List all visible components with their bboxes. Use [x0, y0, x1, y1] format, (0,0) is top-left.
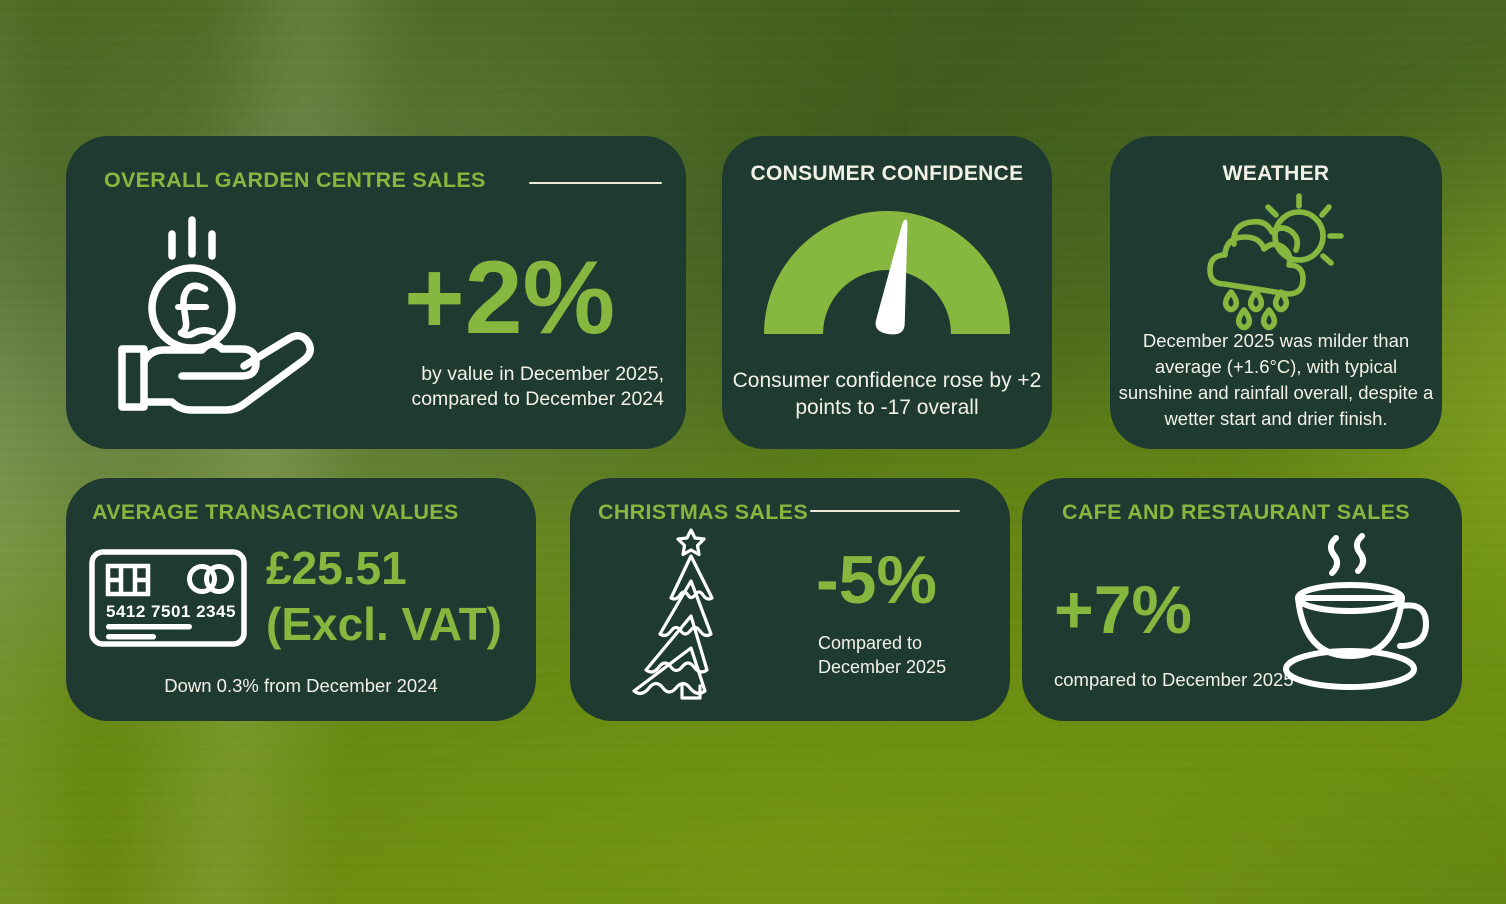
gauge-icon [760, 206, 1014, 338]
christmas-sales-caption: Compared to December 2025 [818, 632, 988, 680]
hand-holding-pound-coin-icon [112, 212, 324, 412]
sun-behind-rain-cloud-icon [1198, 194, 1354, 326]
cafe-sales-value: +7% [1054, 576, 1192, 644]
overall-sales-value: +2% [404, 246, 615, 350]
card-title: CHRISTMAS SALES [598, 500, 808, 525]
average-transaction-value: £25.51 (Excl. VAT) [266, 540, 536, 652]
card-title: CONSUMER CONFIDENCE [722, 162, 1052, 186]
consumer-confidence-caption: Consumer confidence rose by +2 points to… [732, 368, 1042, 422]
title-divider-rule [529, 182, 662, 184]
overall-sales-caption: by value in December 2025, compared to D… [372, 362, 664, 412]
stats-card-grid: OVERALL GARDEN CENTRE SALES +2% by value… [0, 0, 1506, 904]
christmas-sales-value: -5% [816, 546, 937, 614]
title-divider-rule [810, 510, 960, 512]
card-title: AVERAGE TRANSACTION VALUES [92, 500, 459, 525]
card-consumer-confidence: CONSUMER CONFIDENCE Consumer confidence … [722, 136, 1052, 449]
coffee-cup-icon [1280, 526, 1440, 696]
average-transaction-caption: Down 0.3% from December 2024 [66, 674, 536, 698]
card-christmas-sales: CHRISTMAS SALES -5% Compared to December… [570, 478, 1010, 721]
card-cafe-and-restaurant-sales: CAFE AND RESTAURANT SALES +7% compared t… [1022, 478, 1462, 721]
card-average-transaction-values: AVERAGE TRANSACTION VALUES 5412 7501 234… [66, 478, 536, 721]
weather-caption: December 2025 was milder than average (+… [1116, 328, 1436, 432]
card-weather: WEATHER [1110, 136, 1442, 449]
credit-card-icon: 5412 7501 2345 [88, 548, 248, 648]
card-title: OVERALL GARDEN CENTRE SALES [104, 168, 486, 193]
cafe-sales-caption: compared to December 2025 [1054, 668, 1294, 692]
card-title: CAFE AND RESTAURANT SALES [1062, 500, 1410, 525]
credit-card-number: 5412 7501 2345 [106, 602, 236, 621]
card-title: WEATHER [1110, 162, 1442, 186]
christmas-tree-icon [616, 526, 766, 701]
card-overall-garden-centre-sales: OVERALL GARDEN CENTRE SALES +2% by value… [66, 136, 686, 449]
